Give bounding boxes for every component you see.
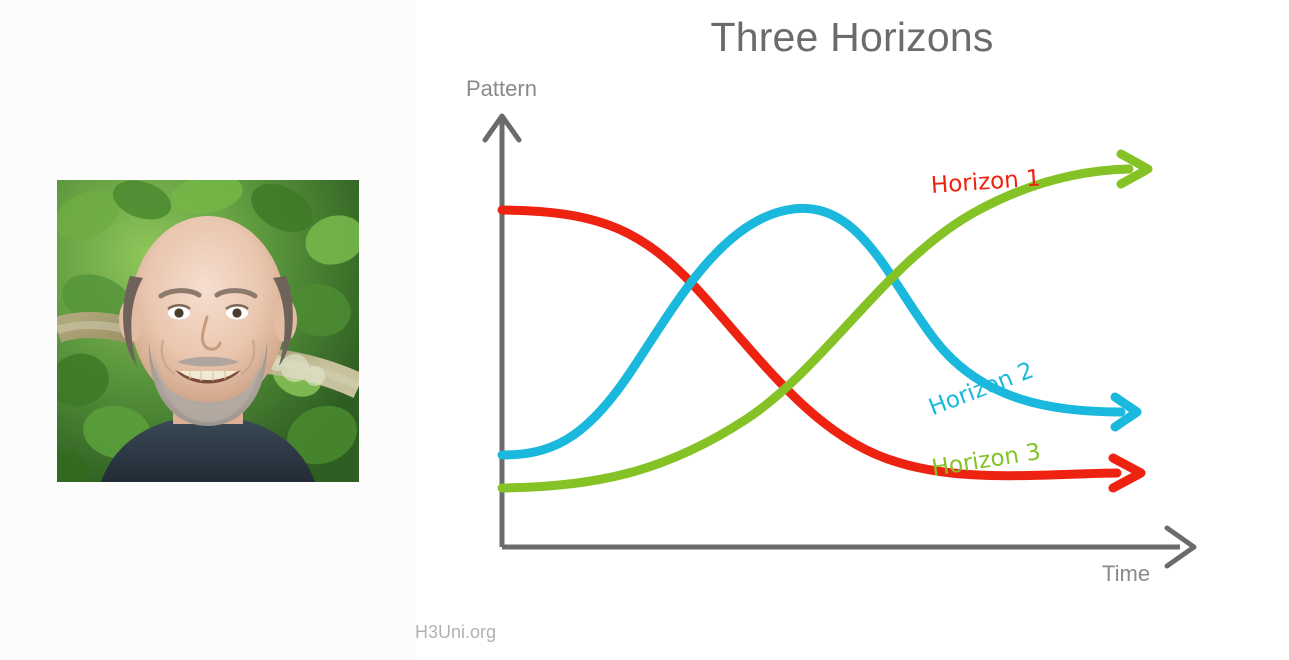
series-horizon-3	[502, 154, 1148, 488]
chart-panel: Three Horizons Pattern Time	[415, 0, 1289, 660]
portrait-photo	[57, 180, 359, 482]
three-horizons-plot	[415, 0, 1289, 660]
footer-attribution: H3Uni.org	[415, 622, 496, 643]
slide-canvas: Three Horizons Pattern Time	[0, 0, 1289, 660]
photo-panel	[0, 0, 415, 660]
